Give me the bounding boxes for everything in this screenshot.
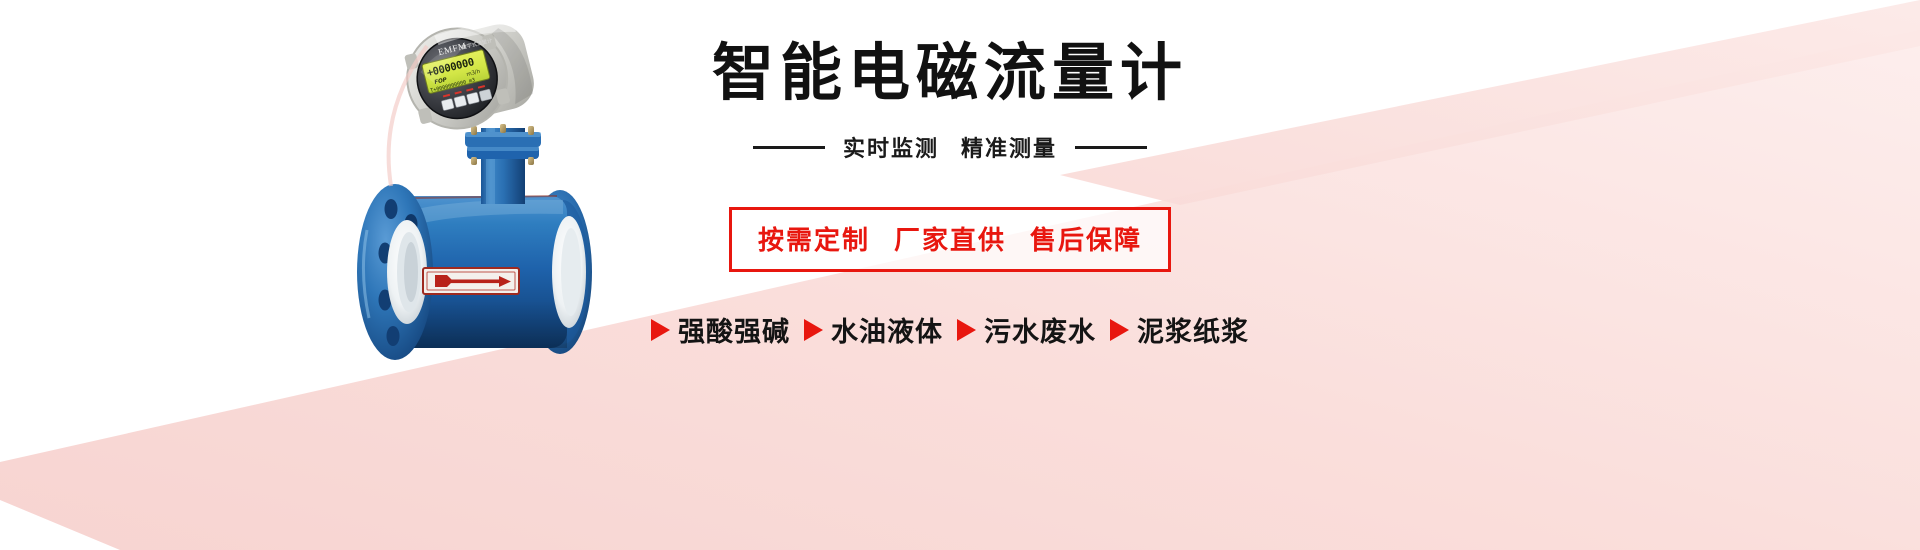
subtitle-left: 实时监测: [843, 136, 939, 161]
promo-item-2: 厂家直供: [894, 225, 1006, 255]
triangle-right-icon: [957, 319, 976, 341]
page-title: 智能电磁流量计: [600, 40, 1300, 105]
banner-copy: 智能电磁流量计 实时监测精准测量 按需定制厂家直供售后保障 强酸强碱 水油液体 …: [600, 40, 1300, 440]
application-label: 水油液体: [831, 310, 943, 349]
outlet-liner: [552, 216, 586, 328]
promo-banner: EMFM 数字式流量计 +0000000 FOP m3/h T+00000000…: [0, 0, 1920, 550]
application-label: 强酸强碱: [678, 310, 790, 349]
list-item: 强酸强碱: [651, 310, 790, 349]
triangle-right-icon: [804, 319, 823, 341]
flow-direction-arrow-label: [423, 268, 519, 294]
rule-left-decoration: [753, 146, 825, 149]
list-item: 水油液体: [804, 310, 943, 349]
triangle-right-icon: [1110, 319, 1129, 341]
application-label: 泥浆纸浆: [1137, 310, 1249, 349]
triangle-right-icon: [651, 319, 670, 341]
subtitle: 实时监测精准测量: [843, 131, 1057, 163]
subtitle-row: 实时监测精准测量: [600, 131, 1300, 163]
list-item: 泥浆纸浆: [1110, 310, 1249, 349]
list-item: 污水废水: [957, 310, 1096, 349]
promo-badge: 按需定制厂家直供售后保障: [729, 207, 1171, 272]
application-list: 强酸强碱 水油液体 污水废水 泥浆纸浆: [600, 310, 1300, 349]
promo-item-1: 按需定制: [758, 225, 870, 255]
inlet-flange: [357, 184, 433, 360]
flowmeter-neck: [465, 124, 541, 204]
promo-item-3: 售后保障: [1030, 225, 1142, 255]
subtitle-right: 精准测量: [961, 136, 1057, 161]
promo-text: 按需定制厂家直供售后保障: [758, 225, 1142, 255]
transmitter-housing: EMFM 数字式流量计 +0000000 FOP m3/h T+00000000…: [397, 12, 542, 139]
application-label: 污水废水: [984, 310, 1096, 349]
rule-right-decoration: [1075, 146, 1147, 149]
